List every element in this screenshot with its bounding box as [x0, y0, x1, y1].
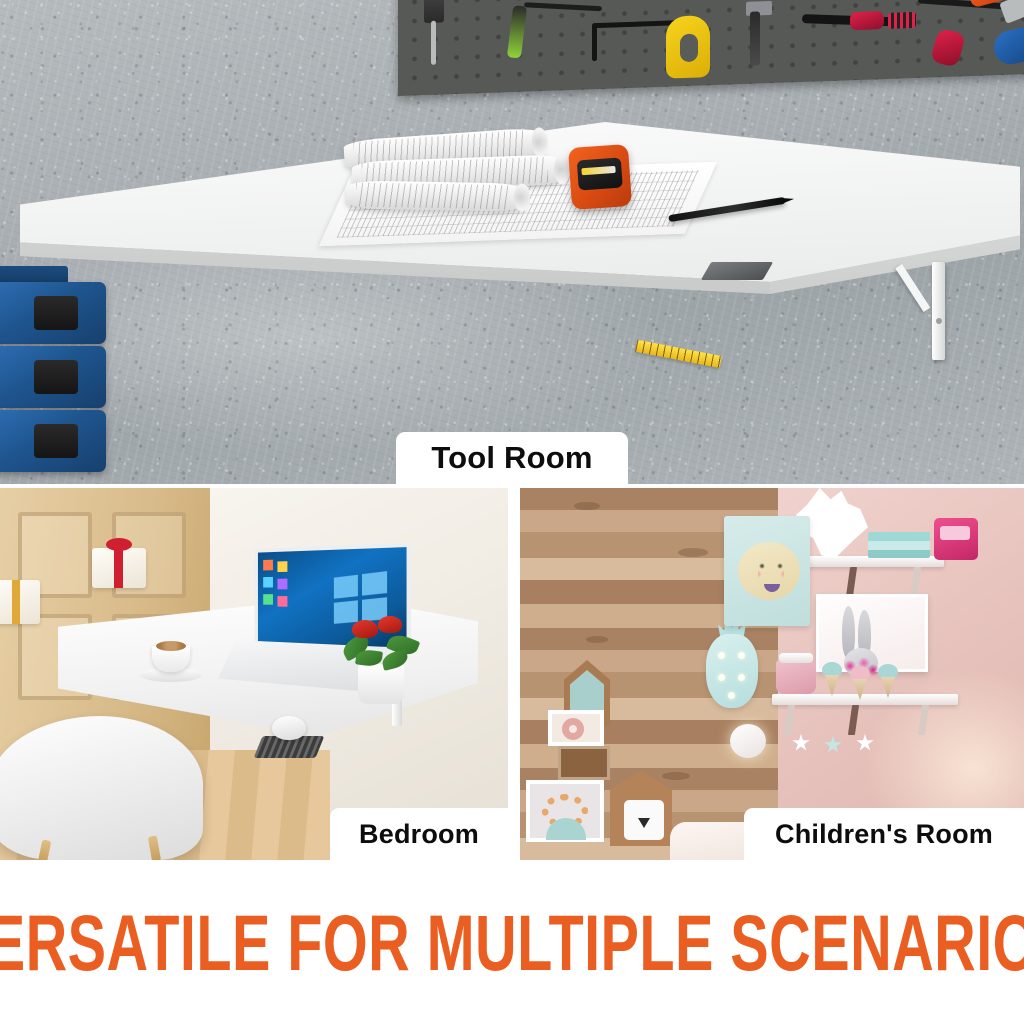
pineapple-lamp [706, 634, 758, 708]
unicorn-face-icon [758, 562, 784, 584]
gift-box [92, 548, 146, 588]
books [868, 532, 930, 558]
headline-text: VERSATILE FOR MULTIPLE SCENARIOS [0, 898, 1024, 989]
red-flower [378, 616, 402, 633]
plant-pot [358, 664, 404, 704]
wood-knot [586, 636, 608, 643]
scene-childrens-room: Children's Room [520, 488, 1024, 860]
lamp-bulb [718, 674, 725, 681]
label-childrens-room: Children's Room [744, 808, 1024, 860]
computer-mouse [272, 716, 306, 740]
blueprint-roll-lines [356, 183, 508, 210]
rolled-blueprint [346, 180, 526, 211]
drill-tool [424, 0, 444, 23]
wall-lamp [730, 724, 766, 758]
red-flower [352, 620, 378, 638]
tape-measure [568, 144, 632, 210]
tool-case-latch [34, 424, 78, 458]
hammer-grip [850, 11, 884, 30]
ice-cream-cone [853, 679, 867, 700]
eames-chair [0, 716, 203, 860]
scene-bedroom: Bedroom [0, 488, 508, 860]
coffee-cup [152, 646, 190, 672]
bracket-bolt [936, 318, 942, 324]
wood-knot [678, 548, 708, 557]
label-childrens-room-text: Children's Room [775, 819, 993, 850]
windows-logo-icon [334, 571, 387, 624]
hammer-grip-ridges [888, 12, 916, 29]
gift-ribbon [12, 580, 20, 624]
ice-cream-figurine [878, 664, 898, 698]
scene-panels-row: Bedroom [0, 488, 1024, 860]
pry-bar-tool [750, 11, 760, 65]
ice-cream-cone [825, 675, 839, 696]
ice-cream-figurine [850, 666, 870, 700]
ice-cream-figurine [822, 662, 842, 696]
label-bedroom: Bedroom [330, 808, 508, 860]
table-surface-detail [701, 262, 773, 280]
blue-tool-case [0, 278, 106, 474]
bracket-vertical-arm [932, 262, 945, 360]
gift-bow [106, 538, 132, 551]
drill-bit-icon [431, 21, 436, 65]
laptop-screen [254, 543, 410, 654]
lamp-bulb [738, 652, 745, 659]
pink-radio [934, 518, 978, 560]
shelf-box [558, 746, 610, 780]
letter-o-decor [562, 718, 584, 740]
label-bedroom-text: Bedroom [359, 819, 479, 850]
gift-ribbon [114, 548, 123, 588]
tool-case-latch [34, 296, 78, 330]
tool-case-latch [34, 360, 78, 394]
lamp-bulb [728, 692, 735, 699]
desktop-icons [263, 559, 299, 637]
tool-case-layer [0, 410, 106, 472]
hacksaw-frame-icon [592, 23, 597, 61]
scene-tool-room: Tool Room [0, 0, 1024, 484]
product-marketing-image: Tool Room [0, 0, 1024, 1024]
tool-case-layer [0, 346, 106, 408]
pink-jar [776, 660, 816, 694]
gift-box [0, 580, 40, 624]
unicorn-artwork [724, 516, 810, 626]
label-tool-room-text: Tool Room [431, 440, 592, 476]
lamp-bulb [738, 674, 745, 681]
ice-cream-cone [881, 677, 895, 698]
headline-banner: VERSATILE FOR MULTIPLE SCENARIOS [0, 862, 1024, 1024]
wood-knot [574, 502, 600, 510]
wood-knot [662, 772, 690, 780]
lamp-bulb [718, 652, 725, 659]
folding-bracket [916, 262, 962, 360]
hacksaw-handle-hole [680, 34, 698, 63]
label-tool-room: Tool Room [396, 432, 628, 484]
